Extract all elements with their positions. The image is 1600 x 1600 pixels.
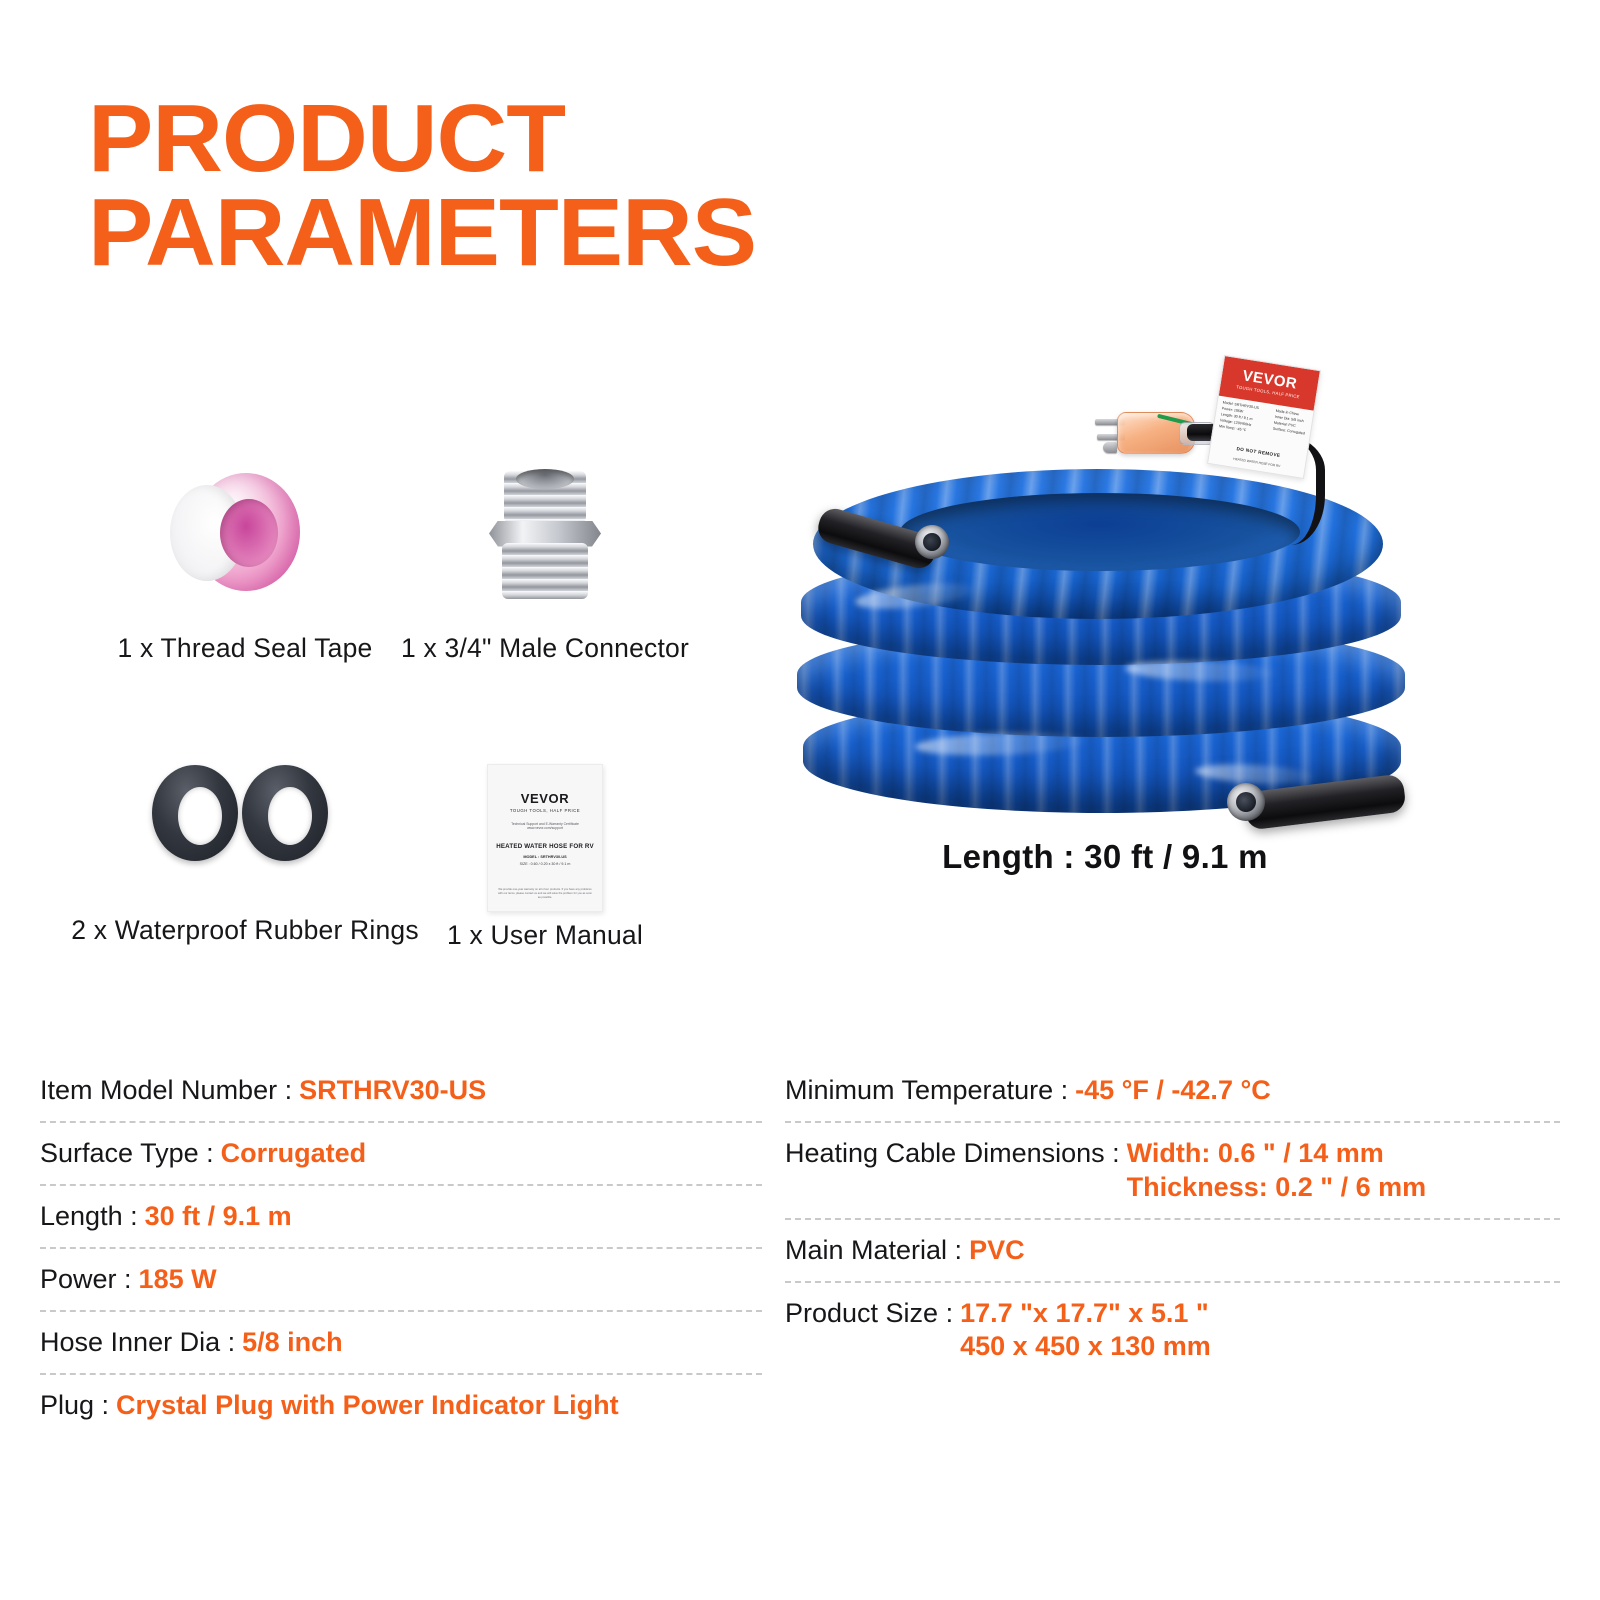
accessory-item-thread-seal-tape: 1 x Thread Seal Tape bbox=[95, 440, 395, 664]
accessory-caption: 1 x User Manual bbox=[447, 920, 643, 951]
page-title-line-1: PRODUCT bbox=[88, 92, 802, 186]
spec-row: Main Material : PVC bbox=[785, 1220, 1560, 1283]
spec-label: Minimum Temperature : bbox=[785, 1074, 1068, 1108]
manual-model: MODEL : SRTHRV30-US bbox=[488, 855, 602, 859]
crystal-plug-icon bbox=[1095, 408, 1213, 456]
spec-label: Plug : bbox=[40, 1389, 109, 1423]
spec-label: Heating Cable Dimensions : bbox=[785, 1137, 1120, 1171]
spec-value: 5/8 inch bbox=[242, 1326, 343, 1360]
coiled-hose-image bbox=[795, 465, 1415, 865]
spec-row: Item Model Number : SRTHRV30-US bbox=[40, 1060, 762, 1123]
spec-label: Power : bbox=[40, 1263, 132, 1297]
manual-slogan: TOUGH TOOLS, HALF PRICE bbox=[488, 808, 602, 813]
tag-specs-right: Made in China Inner Dia: 5/8 inch Materi… bbox=[1272, 410, 1308, 442]
spec-value-line-2: Thickness: 0.2 " / 6 mm bbox=[1127, 1171, 1426, 1205]
spec-row: Plug : Crystal Plug with Power Indicator… bbox=[40, 1375, 762, 1436]
page-title: PRODUCT PARAMETERS bbox=[88, 92, 788, 280]
length-caption: Length : 30 ft / 9.1 m bbox=[795, 838, 1415, 876]
product-hang-tag: VEVOR TOUGH TOOLS, HALF PRICE Model: SRT… bbox=[1207, 355, 1321, 479]
spec-value-line-2: 450 x 450 x 130 mm bbox=[960, 1330, 1211, 1364]
spec-value: SRTHRV30-US bbox=[299, 1074, 486, 1108]
accessories-row-1: 1 x Thread Seal Tape 1 x 3/4" Male Conne… bbox=[95, 440, 775, 664]
spec-label: Length : bbox=[40, 1200, 138, 1234]
spec-label: Item Model Number : bbox=[40, 1074, 292, 1108]
spec-row: Power : 185 W bbox=[40, 1249, 762, 1312]
spec-value: 30 ft / 9.1 m bbox=[145, 1200, 292, 1234]
spec-table-left: Item Model Number : SRTHRV30-US Surface … bbox=[40, 1060, 762, 1436]
spec-label: Surface Type : bbox=[40, 1137, 214, 1171]
accessory-caption: 1 x 3/4" Male Connector bbox=[401, 633, 689, 664]
spec-value: Crystal Plug with Power Indicator Light bbox=[116, 1389, 619, 1423]
accessories-grid: 1 x Thread Seal Tape 1 x 3/4" Male Conne… bbox=[95, 440, 775, 951]
spec-value: Corrugated bbox=[221, 1137, 367, 1171]
spec-label: Product Size : bbox=[785, 1297, 953, 1331]
spec-value: 17.7 "x 17.7" x 5.1 " bbox=[960, 1297, 1211, 1331]
spec-row: Hose Inner Dia : 5/8 inch bbox=[40, 1312, 762, 1375]
spec-value: Width: 0.6 " / 14 mm bbox=[1127, 1137, 1426, 1171]
spec-table-right: Minimum Temperature : -45 °F / -42.7 °C … bbox=[785, 1060, 1560, 1377]
accessory-item-user-manual: VEVOR TOUGH TOOLS, HALF PRICE Technical … bbox=[395, 722, 695, 951]
manual-title: HEATED WATER HOSE FOR RV bbox=[488, 843, 602, 850]
product-photo: VEVOR TOUGH TOOLS, HALF PRICE Model: SRT… bbox=[795, 360, 1415, 870]
manual-fine-print: We provide one-year warranty on all of o… bbox=[488, 888, 602, 900]
user-manual-icon: VEVOR TOUGH TOOLS, HALF PRICE Technical … bbox=[395, 722, 695, 912]
male-connector-icon bbox=[395, 440, 695, 625]
accessory-item-male-connector: 1 x 3/4" Male Connector bbox=[395, 440, 695, 664]
manual-brand: VEVOR bbox=[488, 791, 602, 806]
thread-seal-tape-icon bbox=[95, 440, 395, 625]
page-title-line-2: PARAMETERS bbox=[88, 186, 802, 280]
spec-row: Minimum Temperature : -45 °F / -42.7 °C bbox=[785, 1060, 1560, 1123]
accessory-item-rubber-rings: 2 x Waterproof Rubber Rings bbox=[95, 722, 395, 951]
spec-label: Hose Inner Dia : bbox=[40, 1326, 235, 1360]
tag-specs-left: Model: SRTHRV30-US Power: 185W Length: 3… bbox=[1219, 401, 1259, 434]
spec-value: -45 °F / -42.7 °C bbox=[1075, 1074, 1271, 1108]
spec-row: Surface Type : Corrugated bbox=[40, 1123, 762, 1186]
accessory-caption: 1 x Thread Seal Tape bbox=[118, 633, 373, 664]
spec-value: PVC bbox=[969, 1234, 1025, 1268]
spec-value: 185 W bbox=[139, 1263, 217, 1297]
spec-row: Product Size : 17.7 "x 17.7" x 5.1 " 450… bbox=[785, 1283, 1560, 1378]
manual-size: SIZE : 0.60 / 0.20 x 30 ft / 9.1 m bbox=[488, 862, 602, 866]
spec-row: Length : 30 ft / 9.1 m bbox=[40, 1186, 762, 1249]
spec-label: Main Material : bbox=[785, 1234, 962, 1268]
manual-subtext: Technical Support and E-Warranty Certifi… bbox=[488, 822, 602, 830]
accessories-row-2: 2 x Waterproof Rubber Rings VEVOR TOUGH … bbox=[95, 722, 775, 951]
accessory-caption: 2 x Waterproof Rubber Rings bbox=[71, 915, 419, 946]
rubber-rings-icon bbox=[95, 722, 395, 907]
spec-row: Heating Cable Dimensions : Width: 0.6 " … bbox=[785, 1123, 1560, 1220]
